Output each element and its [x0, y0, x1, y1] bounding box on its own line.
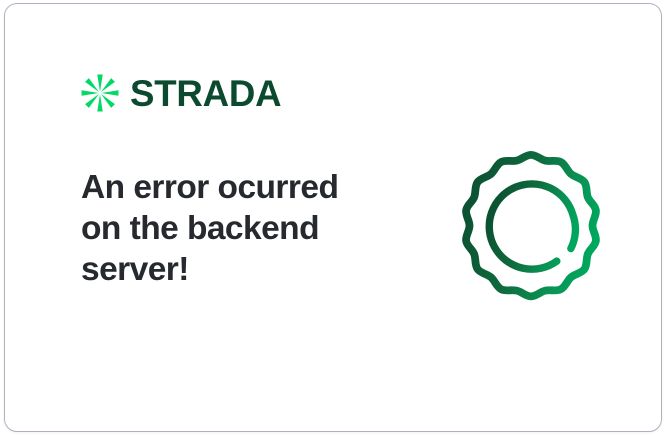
- strada-asterisk-icon: [79, 72, 121, 114]
- error-headline: An error ocurred on the backend server!: [81, 167, 381, 290]
- error-card: STRADA An error ocurred on the backend s…: [4, 3, 662, 432]
- brand-lockup: STRADA: [79, 72, 283, 114]
- screen: STRADA An error ocurred on the backend s…: [0, 0, 666, 436]
- brand-wordmark: STRADA: [130, 75, 281, 112]
- gear-icon: [449, 143, 613, 311]
